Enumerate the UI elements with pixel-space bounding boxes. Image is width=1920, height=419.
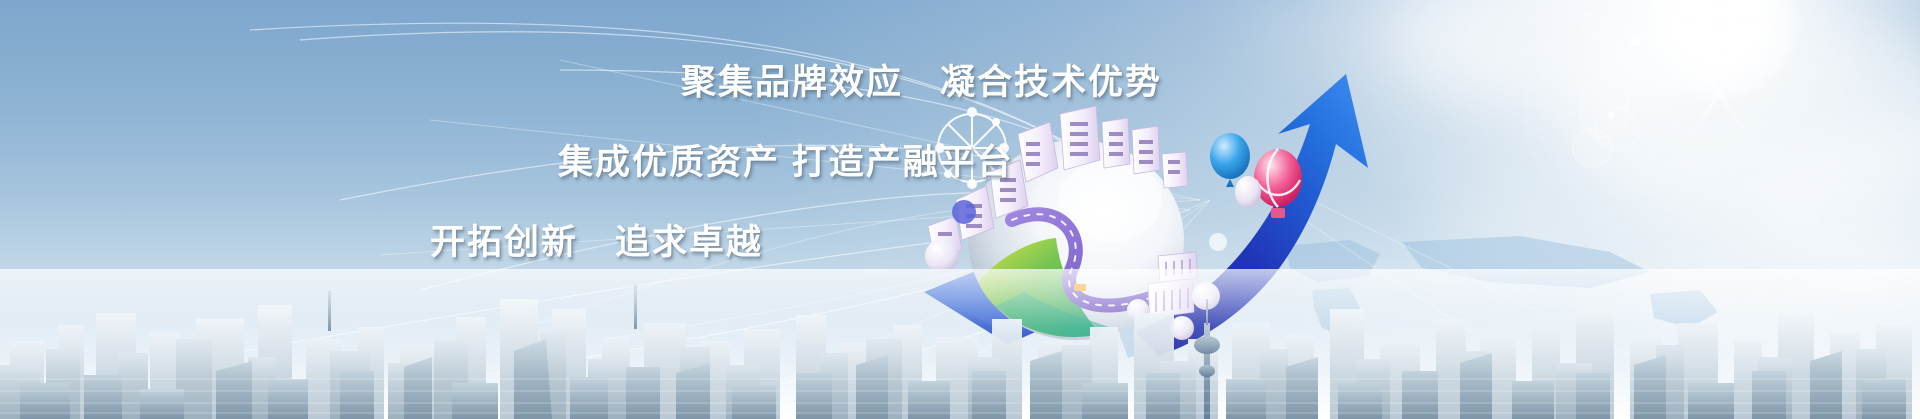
slogan-line-1: 聚集品牌效应 凝合技术优势 <box>681 54 1162 105</box>
slogan-line-2: 集成优质资产 打造产融平台 <box>558 134 1014 185</box>
hero-banner: 聚集品牌效应 凝合技术优势 集成优质资产 打造产融平台 开拓创新 追求卓越 <box>0 0 1920 419</box>
city-skyline <box>0 279 1920 419</box>
slogan-line-3: 开拓创新 追求卓越 <box>430 214 763 265</box>
